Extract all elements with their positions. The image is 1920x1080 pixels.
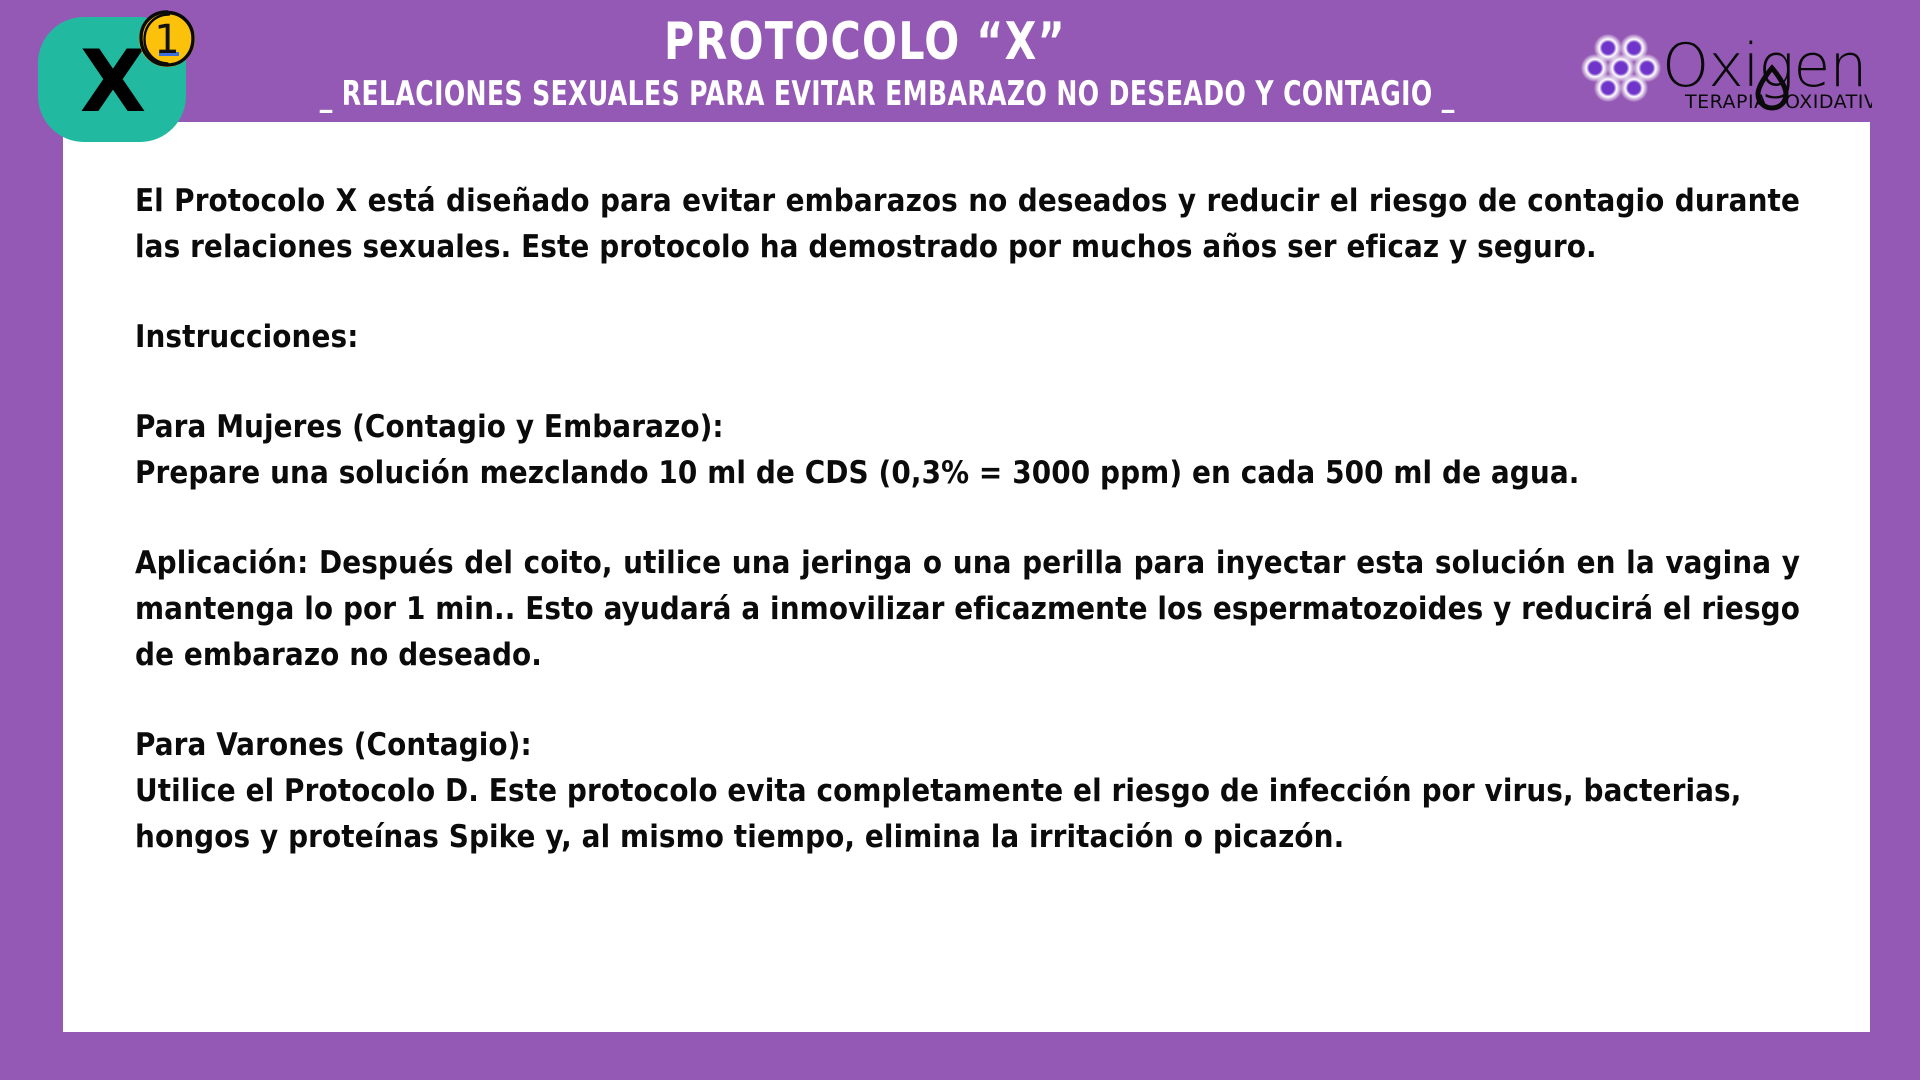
instructions-heading: Instrucciones:: [135, 314, 1800, 360]
page-subtitle: _ RELACIONES SEXUALES PARA EVITAR EMBARA…: [320, 74, 1411, 114]
molecule-cluster-icon: [1581, 34, 1661, 102]
protocol-number-coin: 1: [136, 8, 198, 70]
oxigen-logo: Oxigen TERAPIA OXIDATIVA: [1572, 24, 1872, 116]
content-card: El Protocolo X está diseñado para evitar…: [63, 122, 1870, 1032]
men-instruction: Utilice el Protocolo D. Este protocolo e…: [135, 768, 1800, 860]
women-section: Para Mujeres (Contagio y Embarazo): Prep…: [135, 404, 1800, 496]
coin-number: 1: [136, 9, 198, 71]
oxigen-logo-svg: Oxigen TERAPIA OXIDATIVA: [1572, 24, 1872, 116]
logo-tagline-left: TERAPIA: [1684, 91, 1768, 113]
women-application: Aplicación: Después del coito, utilice u…: [135, 540, 1800, 678]
women-preparation: Prepare una solución mezclando 10 ml de …: [135, 450, 1800, 496]
content-body: El Protocolo X está diseñado para evitar…: [63, 122, 1870, 860]
intro-paragraph: El Protocolo X está diseñado para evitar…: [135, 178, 1800, 270]
men-section: Para Varones (Contagio): Utilice el Prot…: [135, 722, 1800, 860]
protocol-letter: X: [80, 39, 144, 125]
men-heading: Para Varones (Contagio):: [135, 722, 1800, 768]
logo-tagline-right: OXIDATIVA: [1785, 91, 1872, 113]
women-heading: Para Mujeres (Contagio y Embarazo):: [135, 404, 1800, 450]
title-block: PROTOCOLO “X” _ RELACIONES SEXUALES PARA…: [200, 14, 1530, 114]
page-title: PROTOCOLO “X”: [280, 14, 1450, 70]
page-header: X 1 PROTOCOLO “X” _ RELACIONES SEXUALES …: [0, 0, 1920, 142]
